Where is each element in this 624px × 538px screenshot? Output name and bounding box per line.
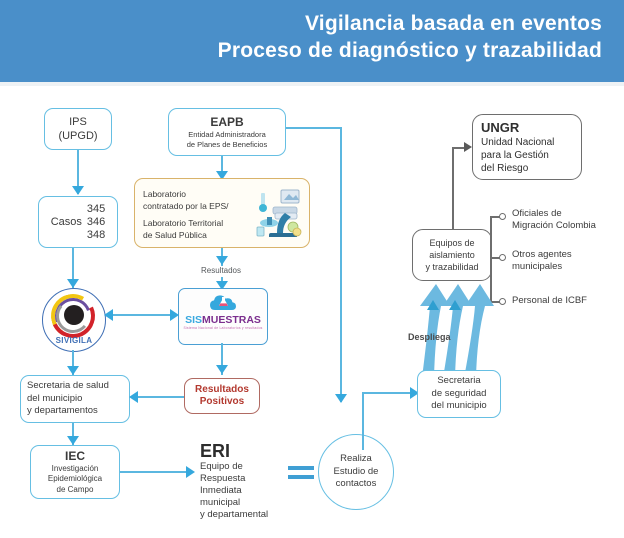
- ungr-line-3: del Riesgo: [481, 162, 528, 175]
- arrowhead-equipos-ungr: [464, 142, 472, 152]
- bullet-dot-otros: [499, 254, 506, 261]
- edge-label-resultados: Resultados: [191, 266, 251, 275]
- casos-value-2: 348: [87, 229, 105, 242]
- edge-respos-to-secsalud: [137, 396, 184, 398]
- realiza-line-1: Realiza: [340, 453, 372, 466]
- realiza-line-3: contactos: [336, 478, 377, 491]
- realiza-line-2: Estudio de: [334, 466, 379, 479]
- node-sismuestras[interactable]: SISMUESTRAS Sistema Nacional de Laborato…: [178, 288, 268, 345]
- arrowhead-secsalud-iec: [67, 436, 79, 445]
- edge-eapb-branch-h: [286, 127, 342, 129]
- bullet-dot-oficiales: [499, 213, 506, 220]
- list-item-oficiales: Oficiales de Migración Colombia: [512, 208, 596, 232]
- sismuestras-subtitle: Sistema Nacional de Laboratorios y resul…: [179, 326, 267, 330]
- arrowhead-sismuestras-respos: [216, 365, 228, 374]
- arrowhead-iec-eri: [186, 466, 195, 478]
- iec-line-3: de Campo: [57, 485, 94, 496]
- arrowhead-casos-sivigila: [67, 279, 79, 288]
- despliega-arrows-icon: [406, 283, 502, 378]
- node-ungr[interactable]: UNGR Unidad Nacional para la Gestión del…: [472, 114, 582, 180]
- edge-sivigila-sismuestras: [111, 314, 175, 316]
- edge-eapb-branch-v: [340, 127, 342, 402]
- sivigila-core-dot: [64, 305, 84, 325]
- respos-line-1: Resultados: [195, 384, 249, 396]
- cloud-flask-icon: [209, 294, 237, 311]
- list-item-otros: Otros agentes municipales: [512, 249, 572, 273]
- casos-label: Casos: [51, 216, 82, 228]
- header-divider: [0, 82, 624, 86]
- list-item-icbf: Personal de ICBF: [512, 295, 587, 307]
- arrowhead-ips-casos: [72, 186, 84, 195]
- node-resultados-positivos[interactable]: Resultados Positivos: [184, 378, 260, 414]
- lab-line-4: de Salud Pública: [143, 229, 261, 241]
- lab-line-1: Laboratorio: [143, 188, 261, 200]
- sivigila-label: SIVIGILA: [43, 336, 105, 345]
- sismuestras-wordmark: SISMUESTRAS: [179, 314, 267, 326]
- eri-title: ERI: [200, 441, 310, 461]
- diagram-canvas: Vigilancia basada en eventos Proceso de …: [0, 0, 624, 538]
- node-iec[interactable]: IEC Investigación Epidemiológica de Camp…: [30, 445, 120, 499]
- node-laboratorio[interactable]: Laboratorio contratado por la EPS/ Labor…: [134, 178, 310, 248]
- sismuestras-word-a: SIS: [185, 314, 202, 326]
- otros-line-2: municipales: [512, 261, 572, 273]
- secsalud-line-1: Secretaria de salud: [27, 380, 109, 393]
- secseg-line-1: Secretaria: [437, 375, 480, 388]
- eapb-line-2: de Planes de Beneficios: [187, 140, 267, 150]
- ungr-line-1: Unidad Nacional: [481, 136, 554, 149]
- secsalud-line-3: y departamentos: [27, 405, 98, 418]
- node-realiza-estudio[interactable]: Realiza Estudio de contactos: [318, 434, 394, 510]
- equipos-line-2: aislamiento: [429, 249, 475, 261]
- node-sivigila[interactable]: SIVIGILA: [42, 288, 106, 352]
- edge-realiza-up-h: [362, 392, 416, 394]
- page-header: Vigilancia basada en eventos Proceso de …: [0, 0, 624, 82]
- iec-title: IEC: [65, 449, 85, 464]
- arrowhead-eapb-realiza: [335, 394, 347, 403]
- edge-iec-to-eri: [120, 471, 188, 473]
- ips-line-2: (UPGD): [58, 129, 97, 143]
- node-eapb[interactable]: EAPB Entidad Administradora de Planes de…: [168, 108, 286, 156]
- title-line-2: Proceso de diagnóstico y trazabilidad: [82, 37, 602, 64]
- arrowhead-to-sismuestras: [170, 309, 179, 321]
- icbf-line-1: Personal de ICBF: [512, 295, 587, 307]
- page-title: Vigilancia basada en eventos Proceso de …: [82, 10, 602, 64]
- edge-label-despliega: Despliega: [408, 332, 451, 342]
- node-ips[interactable]: IPS (UPGD): [44, 108, 112, 150]
- casos-value-0: 345: [87, 203, 105, 216]
- edge-equipos-to-ungr-v: [452, 147, 454, 231]
- lab-line-3: Laboratorio Territorial: [143, 217, 261, 229]
- eri-line-5: y departamental: [200, 509, 310, 521]
- title-line-1: Vigilancia basada en eventos: [82, 10, 602, 37]
- otros-line-1: Otros agentes: [512, 249, 572, 261]
- iec-line-1: Investigación: [52, 464, 99, 475]
- casos-value-1: 346: [87, 216, 105, 229]
- node-equipos[interactable]: Equipos de aislamiento y trazabilidad: [412, 229, 492, 281]
- node-secretaria-salud[interactable]: Secretaria de salud del municipio y depa…: [20, 375, 130, 423]
- arrowhead-respos-secsalud: [129, 391, 138, 403]
- iec-line-2: Epidemiológica: [48, 474, 102, 485]
- secsalud-line-2: del municipio: [27, 393, 82, 406]
- eri-line-3: Inmediata: [200, 485, 310, 497]
- node-secretaria-seguridad[interactable]: Secretaria de seguridad del municipio: [417, 370, 501, 418]
- node-casos[interactable]: Casos 345 346 348: [38, 196, 118, 248]
- respos-line-2: Positivos: [200, 396, 244, 408]
- arrowhead-sivigila-secsalud: [67, 366, 79, 375]
- arrowhead-lab-resultados: [216, 256, 228, 265]
- oficiales-line-1: Oficiales de: [512, 208, 596, 220]
- eapb-line-1: Entidad Administradora: [188, 130, 266, 140]
- lab-line-2: contratado por la EPS/: [143, 200, 261, 212]
- sismuestras-word-b: MUESTRAS: [202, 314, 261, 326]
- eri-line-4: municipal: [200, 497, 310, 509]
- secseg-line-3: del municipio: [431, 400, 486, 413]
- equipos-line-3: y trazabilidad: [425, 261, 478, 273]
- ungr-title: UNGR: [481, 120, 519, 136]
- equipos-line-1: Equipos de: [429, 237, 474, 249]
- oficiales-line-2: Migración Colombia: [512, 220, 596, 232]
- equals-sign-icon: [288, 466, 314, 482]
- secseg-line-2: de seguridad: [432, 388, 487, 401]
- edge-realiza-up-v: [362, 392, 364, 450]
- arrowhead-to-sivigila: [104, 309, 113, 321]
- ungr-line-2: para la Gestión: [481, 149, 549, 162]
- ips-line-1: IPS: [69, 115, 87, 129]
- eapb-title: EAPB: [210, 115, 243, 130]
- microscope-lab-icon: [251, 187, 303, 241]
